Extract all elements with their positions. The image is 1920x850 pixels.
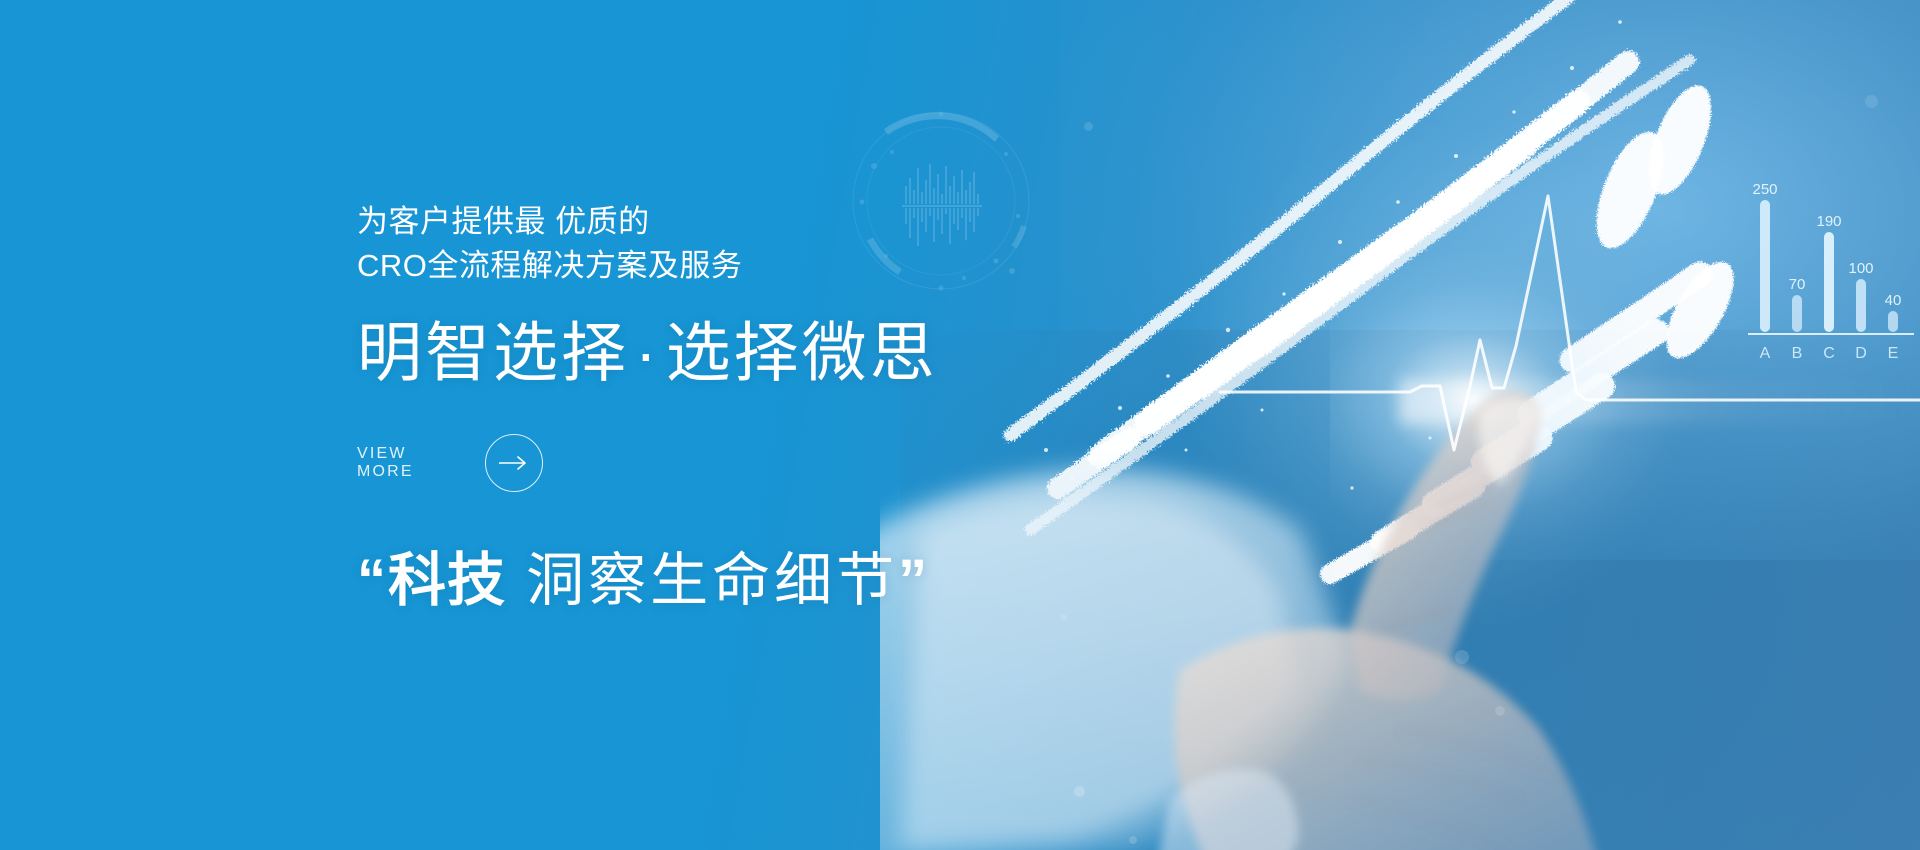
headline-right: 选择微思 [666,316,938,389]
quote-light: 洞察生命细节 [506,548,898,613]
headline-left: 明智选择 [357,316,629,389]
hero-banner: 250 70 190 100 40 A B C D E 为客户提供最 优质的 C… [0,0,1920,850]
quote-close-mark: ” [898,548,929,613]
view-more-label: VIEW MORE [357,445,463,481]
headline-separator: · [629,316,666,389]
hero-subtitle-line1: 为客户提供最 优质的 [357,200,1117,244]
quote-open-mark: “ [357,548,388,613]
quote-strong: 科技 [388,548,506,613]
view-more-button[interactable]: VIEW MORE [357,434,543,492]
arrow-right-icon[interactable] [485,434,543,492]
hero-subtitle-line2: CRO全流程解决方案及服务 [357,244,1117,288]
hero-quote: “科技 洞察生命细节” [357,544,1117,618]
hero-content: 为客户提供最 优质的 CRO全流程解决方案及服务 明智选择·选择微思 VIEW … [357,200,1117,618]
hero-headline: 明智选择·选择微思 [357,314,1117,392]
